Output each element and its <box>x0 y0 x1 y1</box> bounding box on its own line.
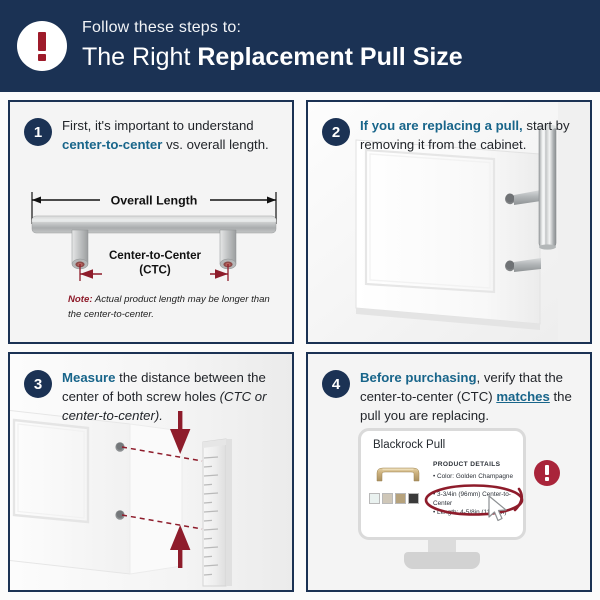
exclamation-circle-icon <box>17 21 67 71</box>
step-panel-2: 2 If you are replacing a pull, start by … <box>306 100 592 344</box>
product-detail-color: • Color: Golden Champagne <box>433 473 519 482</box>
product-page-screen: Blackrock Pull <box>358 428 526 540</box>
note-label: Note: <box>68 294 93 305</box>
step-text-1-highlight: center-to-center <box>62 137 162 152</box>
page-title-light: The Right <box>82 43 197 71</box>
step-text-3-highlight: Measure <box>62 370 116 385</box>
product-page-monitor: Blackrock Pull <box>352 424 552 584</box>
step-panel-4: 4 Before purchasing, verify that the cen… <box>306 352 592 592</box>
step-number-badge-2: 2 <box>322 118 350 146</box>
exclamation-circle-icon <box>534 460 560 486</box>
product-pull-image <box>369 459 427 489</box>
header-banner: Follow these steps to: The Right Replace… <box>0 0 600 92</box>
monitor-base <box>404 552 480 569</box>
step-text-2-highlight: If you are replacing a pull, <box>360 118 523 133</box>
step-panel-1: 1 First, it's important to understand ce… <box>8 100 294 344</box>
product-details-heading: PRODUCT DETAILS <box>433 461 500 468</box>
swatch-thumbnail[interactable] <box>382 493 393 504</box>
step-text-1-part-b: vs. overall length. <box>162 137 268 152</box>
svg-text:(CTC): (CTC) <box>139 264 171 277</box>
svg-text:Center-to-Center: Center-to-Center <box>109 249 202 262</box>
step-text-4-link[interactable]: matches <box>496 389 550 404</box>
product-swatch-thumbnails[interactable] <box>369 493 419 504</box>
step-number-badge-1: 1 <box>24 118 52 146</box>
page-title-bold: Replacement Pull Size <box>197 43 462 71</box>
ctc-highlight-ellipse <box>423 483 525 517</box>
product-title: Blackrock Pull <box>373 439 445 451</box>
header-text-block: Follow these steps to: The Right Replace… <box>82 18 582 73</box>
step-text-4-highlight: Before purchasing <box>360 370 477 385</box>
page-title: The Right Replacement Pull Size <box>82 41 582 73</box>
step-number-badge-4: 4 <box>322 370 350 398</box>
step-text-4: Before purchasing, verify that the cente… <box>360 368 582 425</box>
step-panel-3: 3 Measure the distance between the cente… <box>8 352 294 592</box>
swatch-thumbnail[interactable] <box>408 493 419 504</box>
swatch-thumbnail[interactable] <box>395 493 406 504</box>
note-body: Actual product length may be longer than… <box>68 294 270 320</box>
mouse-pointer-icon <box>487 495 509 523</box>
infographic-page: Follow these steps to: The Right Replace… <box>0 0 600 600</box>
step-text-3: Measure the distance between the center … <box>62 368 284 425</box>
step-text-2: If you are replacing a pull, start by re… <box>360 116 582 154</box>
header-eyebrow: Follow these steps to: <box>82 18 582 38</box>
step-text-1-part-a: First, it's important to understand <box>62 118 254 133</box>
step-text-1: First, it's important to understand cent… <box>62 116 284 154</box>
svg-text:Overall Length: Overall Length <box>111 194 198 208</box>
step-number-badge-3: 3 <box>24 370 52 398</box>
note-text: Note: Actual product length may be longe… <box>68 292 283 322</box>
bar-pull-dimension-diagram: Overall Length Center-to-Center (CTC) <box>26 176 282 281</box>
swatch-thumbnail[interactable] <box>369 493 380 504</box>
